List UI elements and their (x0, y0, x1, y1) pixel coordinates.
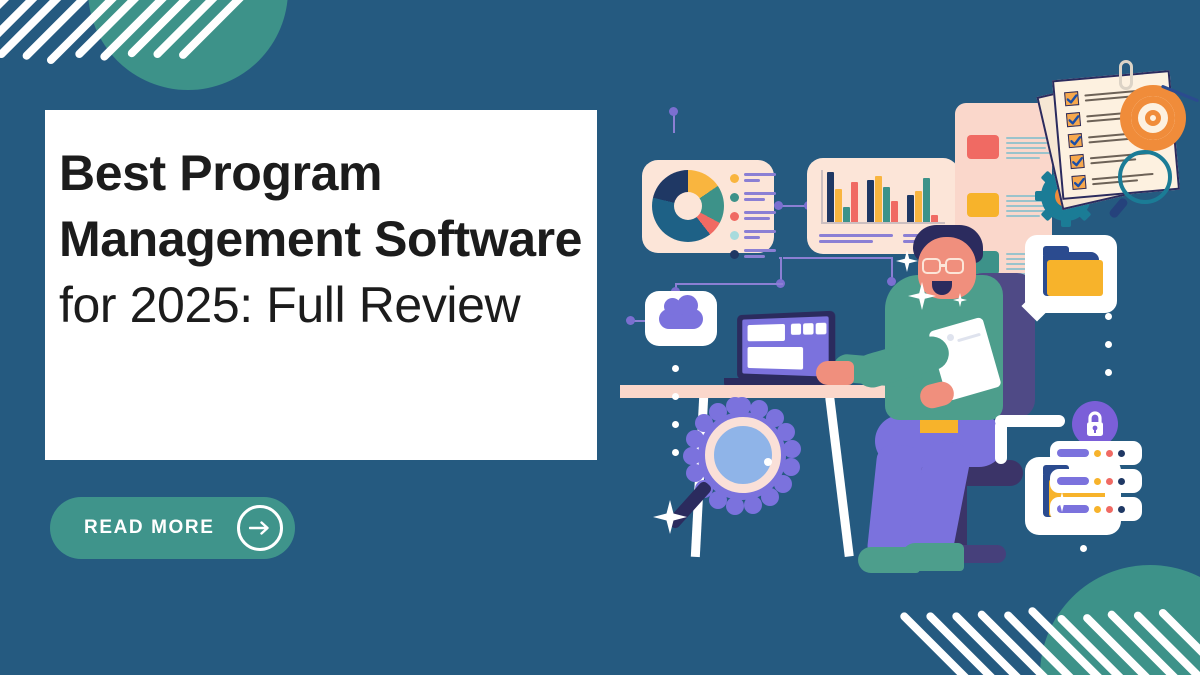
headline-bold: Best Program Management Software (59, 145, 582, 267)
tablet-camera (947, 334, 954, 341)
legend-item (730, 173, 776, 183)
legend-label-lines (744, 173, 776, 182)
page-title: Best Program Management Software for 202… (59, 140, 597, 338)
bar (931, 215, 938, 222)
legend-label-lines (744, 230, 776, 239)
bar (891, 201, 898, 222)
bar (883, 187, 890, 222)
decorative-dot (1105, 369, 1112, 376)
server-led (1094, 506, 1101, 513)
legend-item (730, 249, 776, 259)
donut-chart-card (642, 160, 774, 253)
headline-card: Best Program Management Software for 202… (45, 110, 597, 460)
server-row (1050, 441, 1142, 465)
legend-item (730, 211, 776, 221)
decorative-dot (672, 365, 679, 372)
sparkle-icon (953, 293, 967, 312)
connector-line (675, 283, 783, 285)
bar (923, 178, 930, 222)
connector-line (783, 257, 893, 259)
glasses-icon (922, 258, 941, 274)
legend-label-lines (744, 211, 776, 220)
connector-line (673, 115, 675, 133)
bar-group (867, 176, 898, 222)
decorative-dot (1105, 341, 1112, 348)
read-more-label: READ MORE (84, 517, 215, 539)
server-led (1106, 506, 1113, 513)
connector-dot (626, 316, 635, 325)
paperclip-icon (1119, 60, 1133, 90)
legend-item (730, 230, 776, 240)
chair-armrest (995, 415, 1065, 427)
legend-color-swatch (730, 250, 739, 259)
server-led (1106, 478, 1113, 485)
connector-line (891, 257, 893, 279)
checkbox-checked-icon[interactable] (1068, 133, 1083, 148)
laptop-screen-content (742, 316, 828, 376)
folder-front (1047, 260, 1103, 296)
document-color-chip (967, 193, 999, 217)
server-status-bar (1057, 449, 1089, 457)
decorative-dot (672, 449, 679, 456)
glasses-icon (945, 258, 964, 274)
stripe (177, 0, 290, 60)
arrow-right-circle-icon (237, 505, 283, 551)
magnifier-icon (705, 417, 781, 493)
decorative-dot (672, 393, 679, 400)
server-led (1094, 478, 1101, 485)
legend-label-lines (744, 249, 776, 258)
glasses-bridge (940, 264, 947, 267)
legend-item (730, 192, 776, 202)
sparkle-icon (653, 500, 687, 539)
sparkle-icon (1052, 492, 1072, 517)
bar (907, 195, 914, 222)
bar (851, 182, 858, 222)
checkbox-checked-icon[interactable] (1064, 91, 1079, 106)
server-led (1118, 478, 1125, 485)
checkbox-checked-icon[interactable] (1071, 175, 1086, 190)
server-row (1050, 469, 1142, 493)
magnifier-handle (1108, 197, 1129, 220)
target-icon (1120, 85, 1186, 151)
cloud-card (645, 291, 717, 346)
server-led (1094, 450, 1101, 457)
legend-color-swatch (730, 231, 739, 240)
decorative-dot (1080, 545, 1087, 552)
document-row (967, 135, 1052, 159)
lens-glint (764, 458, 772, 466)
server-led (1118, 506, 1125, 513)
legend-color-swatch (730, 193, 739, 202)
person-hand (816, 361, 854, 385)
donut-chart-icon (652, 170, 724, 242)
server-led (1106, 450, 1113, 457)
bar (915, 191, 922, 222)
server-led (1118, 450, 1125, 457)
bar-group (827, 172, 858, 222)
bar (835, 189, 842, 222)
promo-banner: Best Program Management Software for 202… (0, 0, 1200, 675)
chart-legend (730, 173, 776, 268)
read-more-button[interactable]: READ MORE (50, 497, 295, 559)
bar-chart-icon (821, 170, 945, 224)
bar (843, 207, 850, 222)
sparkle-icon (896, 250, 918, 277)
legend-color-swatch (730, 212, 739, 221)
bar-group (907, 178, 938, 222)
hero-illustration (620, 45, 1200, 575)
legend-label-lines (744, 192, 776, 201)
decorative-dot (672, 421, 679, 428)
connector-dot (669, 107, 678, 116)
headline-regular: for 2025: Full Review (59, 277, 520, 333)
decorative-dot (1105, 313, 1112, 320)
checkbox-checked-icon[interactable] (1070, 154, 1085, 169)
document-color-chip (967, 135, 999, 159)
desk-leg (825, 397, 853, 557)
cloud-icon (659, 309, 703, 329)
server-status-bar (1057, 477, 1089, 485)
decorative-dot (1105, 285, 1112, 292)
checkbox-checked-icon[interactable] (1066, 112, 1081, 127)
sparkle-icon (908, 282, 936, 315)
person-shoe (902, 543, 964, 571)
bar (867, 180, 874, 222)
connector-line (779, 257, 781, 259)
bar (875, 176, 882, 222)
bar (827, 172, 834, 222)
magnifier-icon (1118, 150, 1172, 204)
legend-color-swatch (730, 174, 739, 183)
